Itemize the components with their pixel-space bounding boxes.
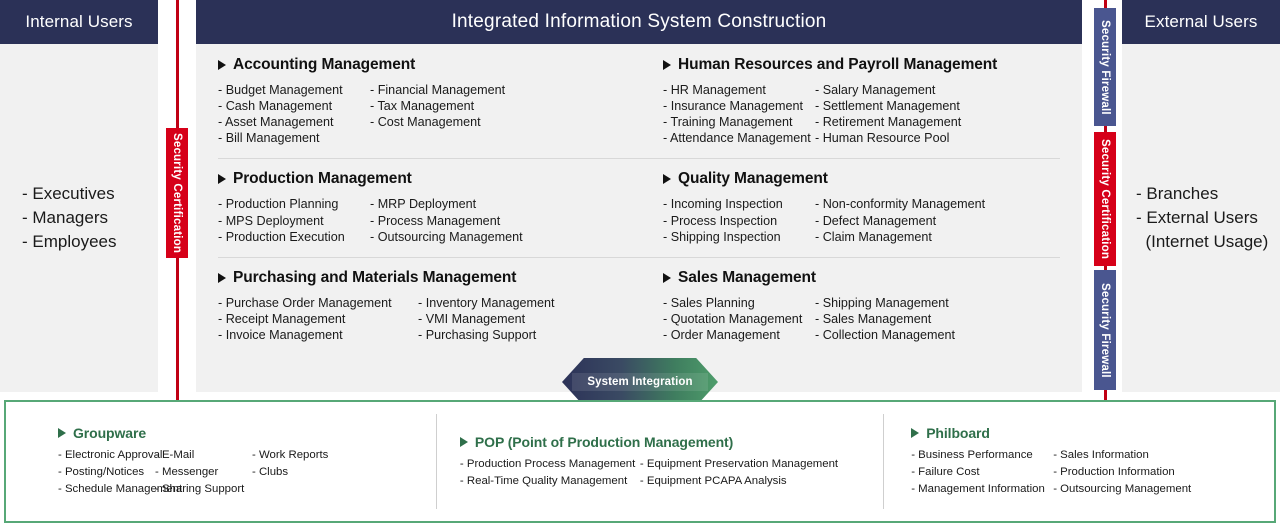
list-item: - Electronic Approval <box>58 447 155 464</box>
list-item: - Financial Management <box>370 82 505 98</box>
module-row: Production Management - Production Plann… <box>218 158 1060 256</box>
list-item: - Salary Management <box>815 82 961 98</box>
module-pop[interactable]: POP (Point of Production Management) - P… <box>436 402 883 521</box>
module-column-b: - E-Mail - Messenger - Sharing Support <box>155 447 252 497</box>
list-item: - Training Management <box>663 114 815 130</box>
module-title: Purchasing and Materials Management <box>233 269 516 287</box>
list-item: - Bill Management <box>218 130 370 146</box>
badge-security-firewall-bottom[interactable]: Security Firewall <box>1094 270 1116 390</box>
badge-security-certification-right[interactable]: Security Certification <box>1094 132 1116 266</box>
list-item: - Sharing Support <box>155 481 252 498</box>
list-item: - Clubs <box>252 464 328 481</box>
list-item: (Internet Usage) <box>1136 230 1268 254</box>
list-item: - Defect Management <box>815 213 985 229</box>
module-title-row: Purchasing and Materials Management <box>218 269 639 287</box>
list-item: - External Users <box>1136 206 1268 230</box>
list-item: - Business Performance <box>911 447 1053 464</box>
list-item: - Schedule Management <box>58 481 155 498</box>
external-users-body: - Branches - External Users (Internet Us… <box>1122 44 1280 392</box>
module-title: Sales Management <box>678 269 816 287</box>
list-item: - Sales Management <box>815 311 955 327</box>
list-item: - Production Process Management <box>460 456 640 473</box>
list-item: - MRP Deployment <box>370 196 523 212</box>
main-system-panel: Integrated Information System Constructi… <box>196 0 1082 392</box>
list-item: - Employees <box>22 230 116 254</box>
module-column-a: - Sales Planning - Quotation Management … <box>663 295 815 343</box>
module-columns: - Electronic Approval - Posting/Notices … <box>58 447 436 497</box>
module-columns: - Production Planning - MPS Deployment -… <box>218 196 639 244</box>
triangle-bullet-icon <box>58 428 66 438</box>
module-title-row: Philboard <box>911 425 1274 441</box>
list-item: - VMI Management <box>418 311 555 327</box>
module-title-row: Sales Management <box>663 269 1060 287</box>
list-item: - Executives <box>22 182 116 206</box>
list-item: - Claim Management <box>815 229 985 245</box>
list-item: - Incoming Inspection <box>663 196 815 212</box>
list-item: - Cash Management <box>218 98 370 114</box>
module-purchasing-materials-management[interactable]: Purchasing and Materials Management - Pu… <box>218 257 639 355</box>
list-item: - Process Inspection <box>663 213 815 229</box>
module-title: Accounting Management <box>233 56 415 74</box>
module-title-row: POP (Point of Production Management) <box>460 434 883 450</box>
module-title: Human Resources and Payroll Management <box>678 56 997 74</box>
module-title-row: Groupware <box>58 425 436 441</box>
list-item: - Attendance Management <box>663 130 815 146</box>
list-item: - Production Planning <box>218 196 370 212</box>
module-column-b: - Equipment Preservation Management - Eq… <box>640 456 838 490</box>
triangle-bullet-icon <box>218 273 226 283</box>
module-column-a: - Budget Management - Cash Management - … <box>218 82 370 146</box>
module-title-row: Production Management <box>218 170 639 188</box>
list-item: - Sales Planning <box>663 295 815 311</box>
list-item: - Settlement Management <box>815 98 961 114</box>
list-item: - Purchasing Support <box>418 327 555 343</box>
triangle-bullet-icon <box>663 273 671 283</box>
internal-users-body: - Executives - Managers - Employees <box>0 44 158 392</box>
list-item: - Managers <box>22 206 116 230</box>
list-item: - Shipping Inspection <box>663 229 815 245</box>
module-title-row: Accounting Management <box>218 56 639 74</box>
module-columns: - Incoming Inspection - Process Inspecti… <box>663 196 1060 244</box>
list-item: - Budget Management <box>218 82 370 98</box>
list-item: - Insurance Management <box>663 98 815 114</box>
list-item: - Inventory Management <box>418 295 555 311</box>
list-item: - Purchase Order Management <box>218 295 418 311</box>
system-integration-badge[interactable]: System Integration <box>562 358 718 406</box>
list-item: - Invoice Management <box>218 327 418 343</box>
module-columns: - Sales Planning - Quotation Management … <box>663 295 1060 343</box>
module-groupware[interactable]: Groupware - Electronic Approval - Postin… <box>6 402 436 521</box>
list-item: - Management Information <box>911 481 1053 498</box>
module-column-c: - Work Reports - Clubs <box>252 447 328 497</box>
list-item: - Outsourcing Management <box>370 229 523 245</box>
list-item: - Quotation Management <box>663 311 815 327</box>
module-title: POP (Point of Production Management) <box>475 434 733 450</box>
list-item: - Tax Management <box>370 98 505 114</box>
module-column-b: - Salary Management - Settlement Managem… <box>815 82 961 146</box>
module-grid: Accounting Management - Budget Managemen… <box>196 44 1082 355</box>
module-title-row: Human Resources and Payroll Management <box>663 56 1060 74</box>
list-item: - Real-Time Quality Management <box>460 473 640 490</box>
module-row: Accounting Management - Budget Managemen… <box>218 44 1060 158</box>
module-columns: - Purchase Order Management - Receipt Ma… <box>218 295 639 343</box>
list-item: - Order Management <box>663 327 815 343</box>
module-title: Philboard <box>926 425 990 441</box>
external-users-panel: External Users - Branches - External Use… <box>1122 0 1280 392</box>
badge-security-certification-left[interactable]: Security Certification <box>166 128 188 258</box>
module-column-a: - Production Planning - MPS Deployment -… <box>218 196 370 244</box>
module-quality-management[interactable]: Quality Management - Incoming Inspection… <box>639 158 1060 256</box>
list-item: - Sales Information <box>1053 447 1191 464</box>
list-item: - MPS Deployment <box>218 213 370 229</box>
triangle-bullet-icon <box>663 60 671 70</box>
internal-users-panel: Internal Users - Executives - Managers -… <box>0 0 158 392</box>
list-item: - Retirement Management <box>815 114 961 130</box>
module-columns: - Production Process Management - Real-T… <box>460 456 883 490</box>
module-column-a: - HR Management - Insurance Management -… <box>663 82 815 146</box>
list-item: - Human Resource Pool <box>815 130 961 146</box>
list-item: - Process Management <box>370 213 523 229</box>
list-item: - Asset Management <box>218 114 370 130</box>
module-title-row: Quality Management <box>663 170 1060 188</box>
list-item: - Equipment PCAPA Analysis <box>640 473 838 490</box>
collaboration-systems-box: Groupware - Electronic Approval - Postin… <box>4 400 1276 523</box>
module-column-b: - Inventory Management - VMI Management … <box>418 295 555 343</box>
external-users-list: - Branches - External Users (Internet Us… <box>1136 182 1268 254</box>
module-sales-management[interactable]: Sales Management - Sales Planning - Quot… <box>639 257 1060 355</box>
module-column-b: - MRP Deployment - Process Management - … <box>370 196 523 244</box>
internal-users-list: - Executives - Managers - Employees <box>22 182 116 254</box>
list-item: - Shipping Management <box>815 295 955 311</box>
module-column-b: - Financial Management - Tax Management … <box>370 82 505 146</box>
list-item: - HR Management <box>663 82 815 98</box>
module-title: Groupware <box>73 425 146 441</box>
triangle-bullet-icon <box>218 60 226 70</box>
module-column-b: - Non-conformity Management - Defect Man… <box>815 196 985 244</box>
list-item: - Cost Management <box>370 114 505 130</box>
module-columns: - Business Performance - Failure Cost - … <box>911 447 1274 497</box>
list-item: - E-Mail <box>155 447 252 464</box>
module-title: Quality Management <box>678 170 828 188</box>
list-item: - Equipment Preservation Management <box>640 456 838 473</box>
module-column-b: - Shipping Management - Sales Management… <box>815 295 955 343</box>
module-columns: - Budget Management - Cash Management - … <box>218 82 639 146</box>
badge-security-firewall-top[interactable]: Security Firewall <box>1094 8 1116 126</box>
list-item: - Production Information <box>1053 464 1191 481</box>
module-philboard[interactable]: Philboard - Business Performance - Failu… <box>883 402 1274 521</box>
module-title: Production Management <box>233 170 412 188</box>
module-column-a: - Incoming Inspection - Process Inspecti… <box>663 196 815 244</box>
external-users-title: External Users <box>1122 0 1280 44</box>
list-item: - Non-conformity Management <box>815 196 985 212</box>
list-item: - Work Reports <box>252 447 328 464</box>
module-column-a: - Business Performance - Failure Cost - … <box>911 447 1053 497</box>
module-production-management[interactable]: Production Management - Production Plann… <box>218 158 639 256</box>
system-integration-label: System Integration <box>562 358 718 406</box>
list-item: - Branches <box>1136 182 1268 206</box>
module-columns: - HR Management - Insurance Management -… <box>663 82 1060 146</box>
module-row: Purchasing and Materials Management - Pu… <box>218 257 1060 355</box>
list-item: - Posting/Notices <box>58 464 155 481</box>
list-item: - Collection Management <box>815 327 955 343</box>
list-item: - Receipt Management <box>218 311 418 327</box>
diagram-root: Internal Users - Executives - Managers -… <box>0 0 1280 527</box>
module-column-b: - Sales Information - Production Informa… <box>1053 447 1191 497</box>
triangle-bullet-icon <box>663 174 671 184</box>
module-column-a: - Purchase Order Management - Receipt Ma… <box>218 295 418 343</box>
module-column-a: - Electronic Approval - Posting/Notices … <box>58 447 155 497</box>
list-item: - Outsourcing Management <box>1053 481 1191 498</box>
module-accounting-management[interactable]: Accounting Management - Budget Managemen… <box>218 44 639 158</box>
triangle-bullet-icon <box>911 428 919 438</box>
triangle-bullet-icon <box>218 174 226 184</box>
module-column-a: - Production Process Management - Real-T… <box>460 456 640 490</box>
list-item: - Messenger <box>155 464 252 481</box>
module-hr-payroll-management[interactable]: Human Resources and Payroll Management -… <box>639 44 1060 158</box>
list-item: - Failure Cost <box>911 464 1053 481</box>
list-item: - Production Execution <box>218 229 370 245</box>
internal-users-title: Internal Users <box>0 0 158 44</box>
page-title: Integrated Information System Constructi… <box>196 0 1082 44</box>
triangle-bullet-icon <box>460 437 468 447</box>
